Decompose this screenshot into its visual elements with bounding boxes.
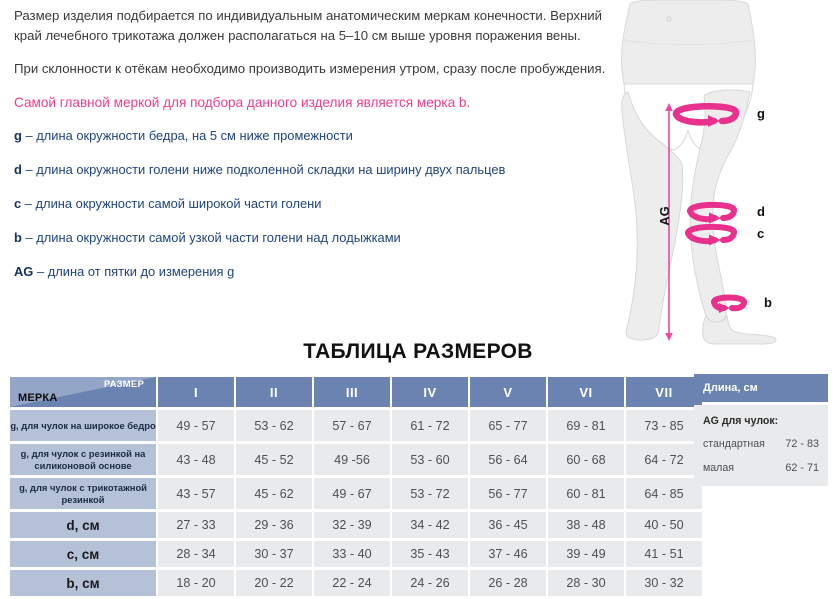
- ag-label: AG: [657, 206, 672, 226]
- column-header-2: II: [236, 377, 312, 407]
- column-header-3: III: [314, 377, 390, 407]
- definition-key-c: c: [14, 196, 21, 211]
- cell-r2-c4: 56 - 77: [470, 478, 546, 509]
- row-label-b: b, см: [10, 570, 156, 596]
- definition-dash: –: [25, 196, 32, 211]
- definition-key-ag: AG: [14, 264, 33, 279]
- cell-r2-c6: 64 - 85: [626, 478, 702, 509]
- cell-r3-c1: 29 - 36: [236, 512, 312, 538]
- leg-measurement-diagram: AG g d c b: [598, 0, 836, 345]
- length-row-standard-name: стандартная: [703, 438, 765, 450]
- table-row: b, см 18 - 20 20 - 22 22 - 24 24 - 26 26…: [10, 570, 702, 596]
- definition-dash: –: [25, 162, 32, 177]
- cell-r0-c2: 57 - 67: [314, 410, 390, 441]
- column-header-6: VI: [548, 377, 624, 407]
- definition-text-d: длина окружности голени ниже подколенной…: [36, 162, 505, 177]
- cell-r1-c2: 49 -56: [314, 444, 390, 475]
- table-row: g, для чулок с трикотажной резинкой 43 -…: [10, 478, 702, 509]
- cell-r4-c3: 35 - 43: [392, 541, 468, 567]
- cell-r1-c1: 45 - 52: [236, 444, 312, 475]
- definition-text-ag: длина от пятки до измерения g: [48, 264, 235, 279]
- cell-r2-c1: 45 - 62: [236, 478, 312, 509]
- table-header-row: РАЗМЕР МЕРКА I II III IV V VI VII: [10, 377, 702, 407]
- cell-r1-c3: 53 - 60: [392, 444, 468, 475]
- cell-r4-c0: 28 - 34: [158, 541, 234, 567]
- cell-r5-c1: 20 - 22: [236, 570, 312, 596]
- corner-measure-label: МЕРКА: [18, 392, 58, 404]
- page-title: ТАБЛИЦА РАЗМЕРОВ: [0, 340, 836, 364]
- cell-r3-c2: 32 - 39: [314, 512, 390, 538]
- length-panel-header: Длина, см: [694, 374, 828, 402]
- definition-key-b: b: [14, 230, 22, 245]
- cell-r3-c3: 34 - 42: [392, 512, 468, 538]
- corner-size-label: РАЗМЕР: [104, 379, 144, 390]
- definition-text-b: длина окружности самой узкой части голен…: [36, 230, 401, 245]
- size-table: РАЗМЕР МЕРКА I II III IV V VI VII g, для…: [8, 374, 688, 599]
- definition-key-d: d: [14, 162, 22, 177]
- definition-text-g: длина окружности бедра, на 5 см ниже про…: [36, 128, 353, 143]
- cell-r3-c6: 40 - 50: [626, 512, 702, 538]
- cell-r0-c0: 49 - 57: [158, 410, 234, 441]
- cell-r4-c1: 30 - 37: [236, 541, 312, 567]
- length-row-standard-value: 72 - 83: [785, 438, 819, 450]
- intro-paragraph-1: Размер изделия подбирается по индивидуал…: [14, 6, 614, 45]
- table-row: g, для чулок с резинкой на силиконовой о…: [10, 444, 702, 475]
- cell-r0-c1: 53 - 62: [236, 410, 312, 441]
- cell-r1-c4: 56 - 64: [470, 444, 546, 475]
- cell-r1-c5: 60 - 68: [548, 444, 624, 475]
- label-b: b: [764, 295, 772, 310]
- cell-r2-c3: 53 - 72: [392, 478, 468, 509]
- definition-dash: –: [25, 128, 32, 143]
- label-g: g: [757, 106, 765, 121]
- table-row: d, см 27 - 33 29 - 36 32 - 39 34 - 42 36…: [10, 512, 702, 538]
- cell-r3-c5: 38 - 48: [548, 512, 624, 538]
- row-label-g-knit-band: g, для чулок с трикотажной резинкой: [10, 478, 156, 509]
- definition-dash: –: [25, 230, 32, 245]
- length-row-small-value: 62 - 71: [785, 462, 819, 474]
- female-lower-body-illustration: [622, 0, 776, 344]
- length-row-small: малая 62 - 71: [703, 462, 819, 474]
- cell-r2-c5: 60 - 81: [548, 478, 624, 509]
- cell-r2-c0: 43 - 57: [158, 478, 234, 509]
- table-row: c, см 28 - 34 30 - 37 33 - 40 35 - 43 37…: [10, 541, 702, 567]
- column-header-4: IV: [392, 377, 468, 407]
- definition-item-b: b – длина окружности самой узкой части г…: [14, 230, 614, 246]
- length-panel: Длина, см AG для чулок: стандартная 72 -…: [694, 374, 828, 486]
- length-row-small-name: малая: [703, 462, 734, 474]
- label-c: c: [757, 226, 764, 241]
- cell-r5-c4: 26 - 28: [470, 570, 546, 596]
- column-header-7: VII: [626, 377, 702, 407]
- cell-r0-c4: 65 - 77: [470, 410, 546, 441]
- row-label-g-wide-thigh: g, для чулок на широкое бедро: [10, 410, 156, 441]
- table-row: g, для чулок на широкое бедро 49 - 57 53…: [10, 410, 702, 441]
- cell-r1-c0: 43 - 48: [158, 444, 234, 475]
- column-header-1: I: [158, 377, 234, 407]
- definition-text-c: длина окружности самой широкой части гол…: [36, 196, 322, 211]
- cell-r0-c3: 61 - 72: [392, 410, 468, 441]
- definition-item-ag: AG – длина от пятки до измерения g: [14, 264, 614, 280]
- cell-r3-c0: 27 - 33: [158, 512, 234, 538]
- definition-key-g: g: [14, 128, 22, 143]
- table-corner-header: РАЗМЕР МЕРКА: [10, 377, 156, 407]
- cell-r5-c5: 28 - 30: [548, 570, 624, 596]
- cell-r1-c6: 64 - 72: [626, 444, 702, 475]
- definition-item-d: d – длина окружности голени ниже подколе…: [14, 162, 614, 178]
- cell-r4-c4: 37 - 46: [470, 541, 546, 567]
- cell-r2-c2: 49 - 67: [314, 478, 390, 509]
- definition-item-c: c – длина окружности самой широкой части…: [14, 196, 614, 212]
- length-panel-title: AG для чулок:: [703, 415, 819, 427]
- cell-r4-c6: 41 - 51: [626, 541, 702, 567]
- row-label-d: d, см: [10, 512, 156, 538]
- cell-r5-c3: 24 - 26: [392, 570, 468, 596]
- cell-r0-c5: 69 - 81: [548, 410, 624, 441]
- cell-r5-c0: 18 - 20: [158, 570, 234, 596]
- label-d: d: [757, 204, 765, 219]
- measurement-definitions-list: g – длина окружности бедра, на 5 см ниже…: [14, 128, 614, 280]
- highlight-note: Самой главной меркой для подбора данного…: [14, 93, 614, 112]
- cell-r0-c6: 73 - 85: [626, 410, 702, 441]
- length-row-standard: стандартная 72 - 83: [703, 438, 819, 450]
- intro-paragraph-2: При склонности к отёкам необходимо произ…: [14, 59, 614, 79]
- column-header-5: V: [470, 377, 546, 407]
- cell-r4-c5: 39 - 49: [548, 541, 624, 567]
- cell-r5-c6: 30 - 32: [626, 570, 702, 596]
- length-panel-body: AG для чулок: стандартная 72 - 83 малая …: [694, 405, 828, 486]
- row-label-g-silicone-band: g, для чулок с резинкой на силиконовой о…: [10, 444, 156, 475]
- cell-r4-c2: 33 - 40: [314, 541, 390, 567]
- cell-r5-c2: 22 - 24: [314, 570, 390, 596]
- row-label-c: c, см: [10, 541, 156, 567]
- instructions-panel: Размер изделия подбирается по индивидуал…: [14, 6, 614, 298]
- definition-dash: –: [37, 264, 44, 279]
- definition-item-g: g – длина окружности бедра, на 5 см ниже…: [14, 128, 614, 144]
- cell-r3-c4: 36 - 45: [470, 512, 546, 538]
